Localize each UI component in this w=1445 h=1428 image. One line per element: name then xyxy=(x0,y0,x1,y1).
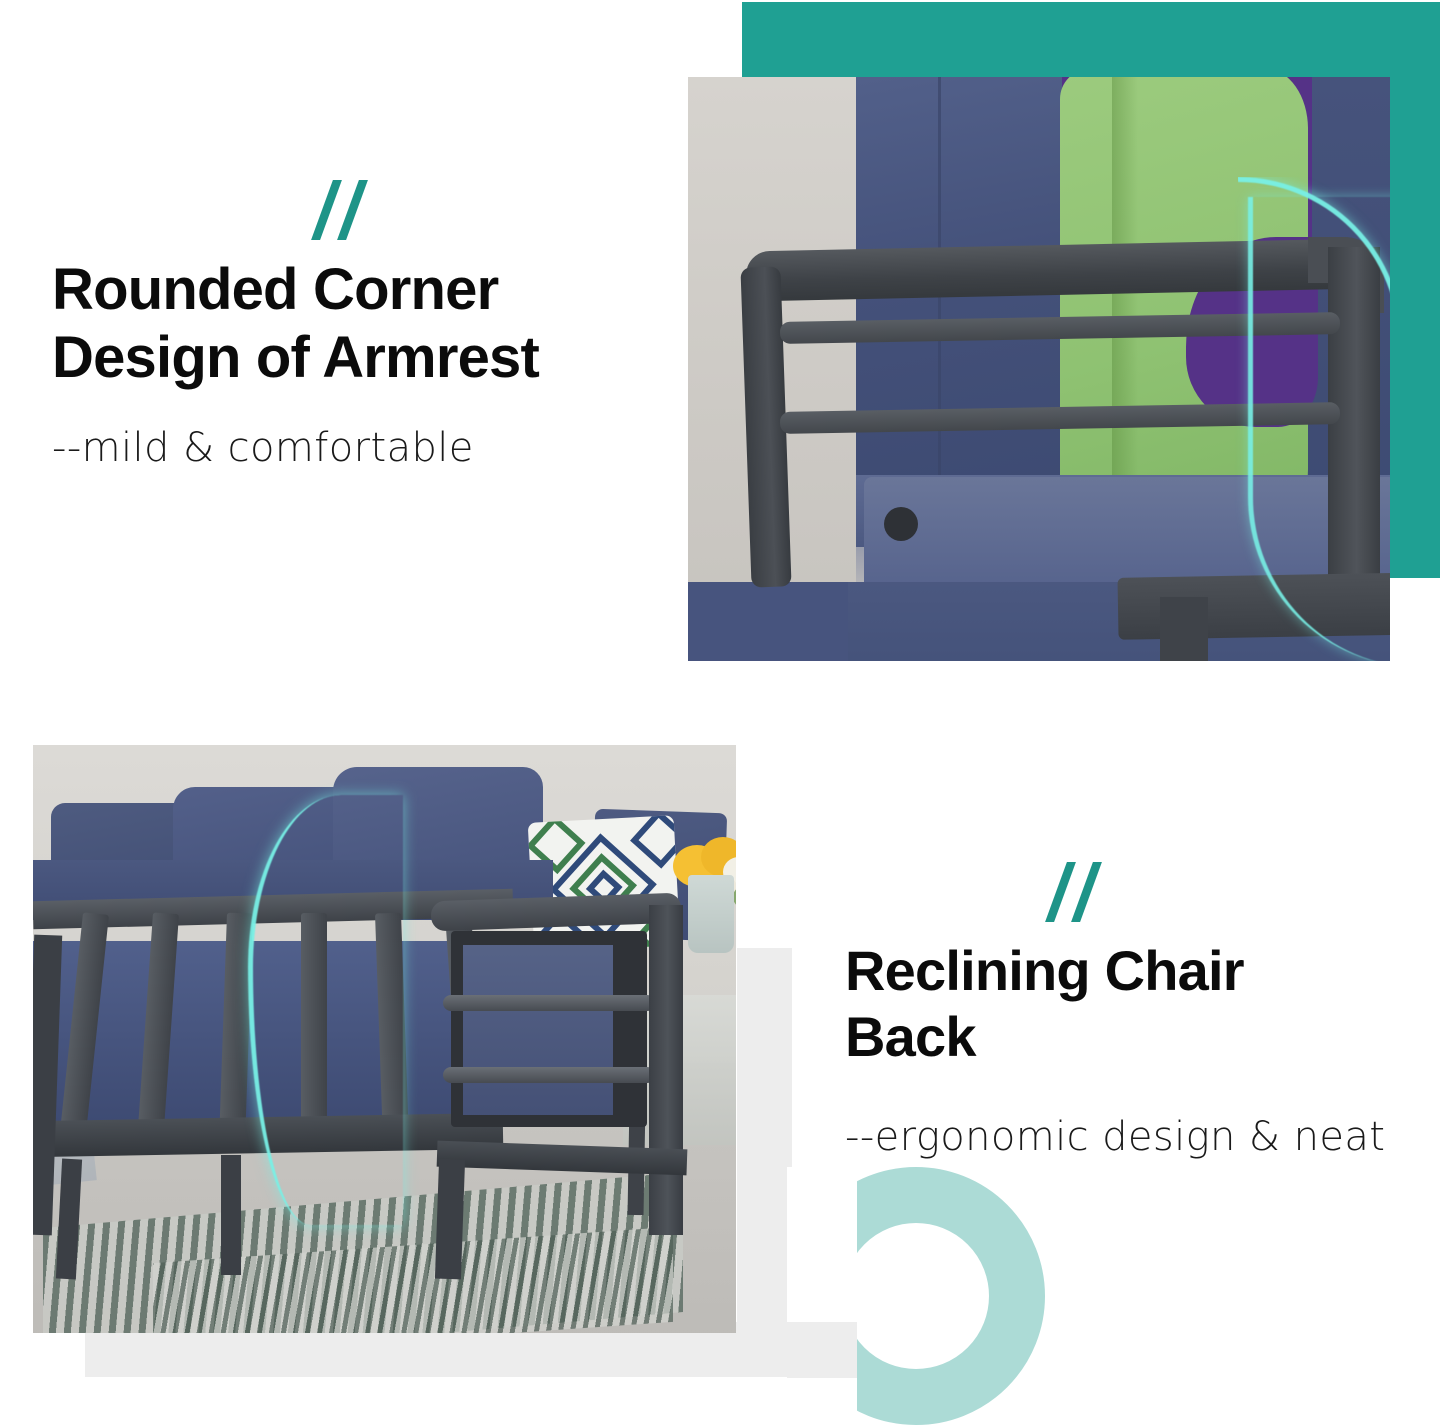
armrest-right-post xyxy=(649,905,683,1235)
flower-vase xyxy=(688,875,734,953)
feature-block-reclining: Reclining Chair Back --ergonomic design … xyxy=(845,862,1445,1162)
sofa-legs-group xyxy=(53,1145,473,1295)
armrest-slat-upper xyxy=(443,995,655,1011)
armrest-closeup-photo xyxy=(688,77,1390,661)
teal-highlight-curve xyxy=(248,795,403,1225)
feature-subline-armrest: --mild & comfortable xyxy=(52,423,672,473)
slash-stroke-1 xyxy=(311,180,342,240)
ring-left-mask xyxy=(787,1167,857,1425)
armrest-leg xyxy=(435,1159,465,1280)
sofa-leg xyxy=(56,1159,82,1280)
frame-knob xyxy=(884,507,918,541)
slash-accent-mark xyxy=(845,862,1445,924)
ring-left-mask-lower xyxy=(787,1322,857,1378)
feature-block-armrest: Rounded Corner Design of Armrest --mild … xyxy=(52,180,672,473)
poster-canvas: Rounded Corner Design of Armrest --mild … xyxy=(0,0,1445,1428)
slash-accent-mark xyxy=(52,180,672,242)
slash-stroke-1 xyxy=(1045,862,1076,922)
slash-stroke-2 xyxy=(337,180,368,240)
feature-subline-reclining: --ergonomic design & neat xyxy=(845,1112,1445,1162)
slash-stroke-2 xyxy=(1071,862,1102,922)
armrest-slat-lower xyxy=(443,1067,655,1083)
armrest-side-cushion xyxy=(463,945,613,1115)
sofa-back-photo xyxy=(33,745,736,1333)
feature-headline-armrest: Rounded Corner Design of Armrest xyxy=(52,256,672,393)
sofa-leg xyxy=(221,1155,241,1275)
feature-headline-reclining: Reclining Chair Back xyxy=(845,938,1445,1070)
gray-accent-panel-mid xyxy=(737,948,792,1148)
navy-lower-area-left xyxy=(688,582,848,661)
frame-leg xyxy=(1160,597,1208,661)
